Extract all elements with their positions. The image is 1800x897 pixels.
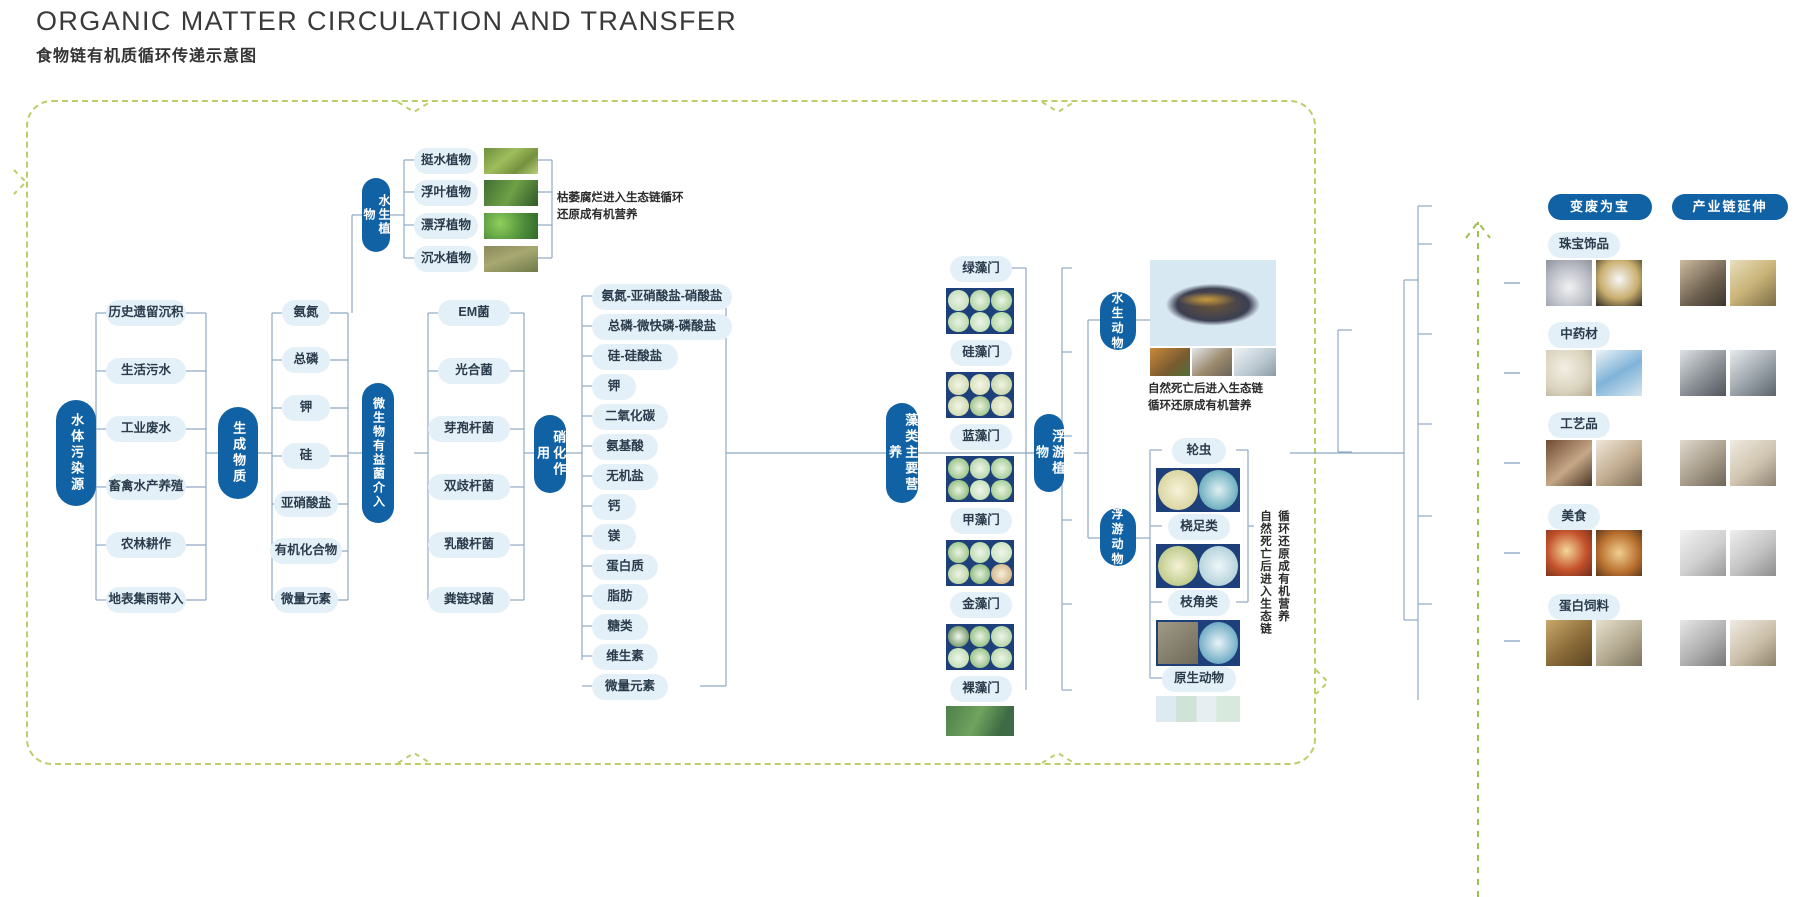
algae-nutrient-7[interactable]: 钙 <box>592 494 636 520</box>
pollution-source-item-5[interactable]: 地表集雨带入 <box>106 587 186 613</box>
microbe-item-0[interactable]: EM菌 <box>438 300 510 326</box>
zooplankton-note: 循环还原成有机营养 自然死亡后进入生态链 <box>1256 510 1292 680</box>
aquatic-animal-photo-2 <box>1234 348 1276 376</box>
product-photo-4-0 <box>1546 620 1592 666</box>
algae-nutrient-4[interactable]: 二氧化碳 <box>592 404 668 430</box>
aquatic-plant-photo-0 <box>484 148 538 174</box>
product-photo-4-1 <box>1596 620 1642 666</box>
aquatic-plant-photo-1 <box>484 180 538 206</box>
stage-microbe-intervention[interactable]: 微生物有益菌介入 <box>362 383 394 523</box>
product-category-label-3[interactable]: 美食 <box>1548 504 1600 530</box>
stage-phytoplankton[interactable]: 浮游植物 <box>1034 414 1064 492</box>
product-photo-1-1 <box>1596 350 1642 396</box>
aquatic-plant-item-0[interactable]: 挺水植物 <box>414 148 478 174</box>
pollution-source-item-2[interactable]: 工业废水 <box>106 416 186 442</box>
zooplankton-thumbs-3 <box>1156 696 1240 722</box>
product-category-label-4[interactable]: 蛋白饲料 <box>1548 594 1620 620</box>
phytoplankton-thumbs-1 <box>946 372 1014 418</box>
pollution-source-item-4[interactable]: 农林耕作 <box>106 532 186 558</box>
stage-aquatic-plants[interactable]: 水生植物 <box>362 178 390 252</box>
product-photo-2-0 <box>1546 440 1592 486</box>
algae-nutrient-3[interactable]: 钾 <box>592 374 636 400</box>
phytoplankton-taxon-label-1[interactable]: 硅藻门 <box>950 340 1012 366</box>
phytoplankton-thumbs-4 <box>946 624 1014 670</box>
aquatic-plants-note: 枯萎腐烂进入生态链循环 还原成有机营养 <box>557 190 707 224</box>
phytoplankton-thumbs-3 <box>946 540 1014 586</box>
zooplankton-taxon-label-2[interactable]: 枝角类 <box>1168 590 1230 616</box>
stage-pollution-source[interactable]: 水体污染源 <box>56 400 96 506</box>
generated-substance-item-0[interactable]: 氨氮 <box>282 300 330 326</box>
aquatic-plant-item-2[interactable]: 漂浮植物 <box>414 213 478 239</box>
microbe-item-4[interactable]: 乳酸杆菌 <box>428 532 510 558</box>
phytoplankton-taxon-label-4[interactable]: 金藻门 <box>950 592 1012 618</box>
microbe-item-5[interactable]: 粪链球菌 <box>428 587 510 613</box>
right-panel-header-1[interactable]: 产业链延伸 <box>1672 194 1788 220</box>
product-photo-2-3 <box>1730 440 1776 486</box>
product-photo-1-0 <box>1546 350 1592 396</box>
algae-nutrient-11[interactable]: 糖类 <box>592 614 648 640</box>
algae-nutrient-1[interactable]: 总磷-微快磷-磷酸盐 <box>592 314 732 340</box>
phytoplankton-taxon-label-0[interactable]: 绿藻门 <box>950 256 1012 282</box>
phytoplankton-thumbs-0 <box>946 288 1014 334</box>
zooplankton-thumbs-2 <box>1156 620 1240 666</box>
algae-nutrient-13[interactable]: 微量元素 <box>592 674 668 700</box>
stage-generated-substance[interactable]: 生成物质 <box>218 407 258 499</box>
generated-substance-item-4[interactable]: 亚硝酸盐 <box>274 491 338 517</box>
pollution-source-item-1[interactable]: 生活污水 <box>106 358 186 384</box>
generated-substance-item-3[interactable]: 硅 <box>282 443 330 469</box>
zooplankton-taxon-label-0[interactable]: 轮虫 <box>1172 438 1226 464</box>
product-photo-0-3 <box>1730 260 1776 306</box>
product-photo-3-0 <box>1546 530 1592 576</box>
algae-nutrient-0[interactable]: 氨氮-亚硝酸盐-硝酸盐 <box>592 284 732 310</box>
product-photo-0-1 <box>1596 260 1642 306</box>
aquatic-animal-photo-1 <box>1192 348 1232 376</box>
stage-algae-nutrition[interactable]: 藻类主要营养 <box>886 403 918 503</box>
algae-nutrient-2[interactable]: 硅-硅酸盐 <box>592 344 678 370</box>
zooplankton-taxon-label-3[interactable]: 原生动物 <box>1162 666 1236 692</box>
product-photo-0-2 <box>1680 260 1726 306</box>
product-photo-1-3 <box>1730 350 1776 396</box>
algae-nutrient-6[interactable]: 无机盐 <box>592 464 658 490</box>
microbe-item-3[interactable]: 双歧杆菌 <box>428 474 510 500</box>
algae-nutrient-5[interactable]: 氨基酸 <box>592 434 658 460</box>
phytoplankton-taxon-label-5[interactable]: 裸藻门 <box>950 676 1012 702</box>
product-photo-2-2 <box>1680 440 1726 486</box>
generated-substance-item-2[interactable]: 钾 <box>282 395 330 421</box>
stage-nitrification[interactable]: 硝化作用 <box>534 415 566 493</box>
aquatic-animals-note: 自然死亡后进入生态链 循环还原成有机营养 <box>1148 381 1298 415</box>
product-photo-4-3 <box>1730 620 1776 666</box>
microbe-item-2[interactable]: 芽孢杆菌 <box>428 416 510 442</box>
algae-nutrient-12[interactable]: 维生素 <box>592 644 658 670</box>
algae-nutrient-10[interactable]: 脂肪 <box>592 584 648 610</box>
aquatic-animal-photo-0 <box>1150 348 1190 376</box>
product-category-label-2[interactable]: 工艺品 <box>1548 412 1610 438</box>
product-photo-1-2 <box>1680 350 1726 396</box>
product-photo-3-1 <box>1596 530 1642 576</box>
product-photo-3-3 <box>1730 530 1776 576</box>
microbe-item-1[interactable]: 光合菌 <box>438 358 510 384</box>
product-photo-3-2 <box>1680 530 1726 576</box>
aquatic-plant-photo-3 <box>484 246 538 272</box>
phytoplankton-taxon-label-2[interactable]: 蓝藻门 <box>950 424 1012 450</box>
stage-aquatic-animals[interactable]: 水生动物 <box>1100 292 1136 350</box>
generated-substance-item-6[interactable]: 微量元素 <box>274 587 338 613</box>
generated-substance-item-5[interactable]: 有机化合物 <box>270 538 342 564</box>
aquatic-plant-photo-2 <box>484 213 538 239</box>
algae-nutrient-8[interactable]: 镁 <box>592 524 636 550</box>
mussel-photo <box>1150 260 1276 346</box>
product-category-label-1[interactable]: 中药材 <box>1548 322 1610 348</box>
product-category-label-0[interactable]: 珠宝饰品 <box>1548 232 1620 258</box>
aquatic-plant-item-1[interactable]: 浮叶植物 <box>414 180 478 206</box>
pollution-source-item-3[interactable]: 畜禽水产养殖 <box>106 474 186 500</box>
right-panel-header-0[interactable]: 变废为宝 <box>1548 194 1652 220</box>
phytoplankton-thumbs-2 <box>946 456 1014 502</box>
zooplankton-thumbs-1 <box>1156 544 1240 588</box>
algae-nutrient-9[interactable]: 蛋白质 <box>592 554 658 580</box>
product-photo-4-2 <box>1680 620 1726 666</box>
phytoplankton-taxon-label-3[interactable]: 甲藻门 <box>950 508 1012 534</box>
aquatic-plant-item-3[interactable]: 沉水植物 <box>414 246 478 272</box>
product-photo-0-0 <box>1546 260 1592 306</box>
generated-substance-item-1[interactable]: 总磷 <box>282 347 330 373</box>
pollution-source-item-0[interactable]: 历史遗留沉积 <box>106 300 186 326</box>
zooplankton-thumbs-0 <box>1156 468 1240 512</box>
stage-zooplankton[interactable]: 浮游动物 <box>1100 508 1136 566</box>
phytoplankton-thumbs-5 <box>946 706 1014 736</box>
product-photo-2-1 <box>1596 440 1642 486</box>
zooplankton-taxon-label-1[interactable]: 桡足类 <box>1168 514 1230 540</box>
